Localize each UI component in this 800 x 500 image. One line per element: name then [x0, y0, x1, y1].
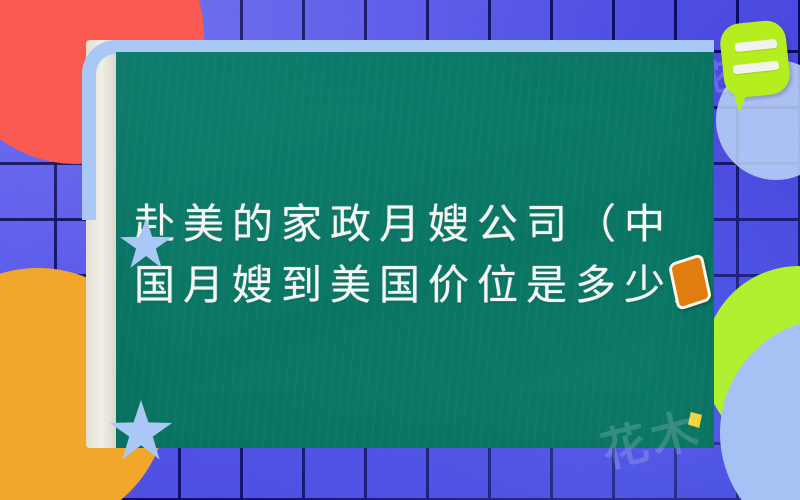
blackboard: 赴美的家政月嫂公司（中国月嫂到美国价位是多少） — [74, 40, 714, 448]
banner-canvas: 花 赴美的家政月嫂公司（中国月嫂到美国价位是多少） 花木 — [0, 0, 800, 500]
speech-bubble-icon — [722, 22, 788, 96]
speech-bubble-body — [718, 19, 791, 99]
page-title: 赴美的家政月嫂公司（中国月嫂到美国价位是多少） — [134, 194, 706, 316]
blackboard-surface: 赴美的家政月嫂公司（中国月嫂到美国价位是多少） — [116, 52, 714, 448]
